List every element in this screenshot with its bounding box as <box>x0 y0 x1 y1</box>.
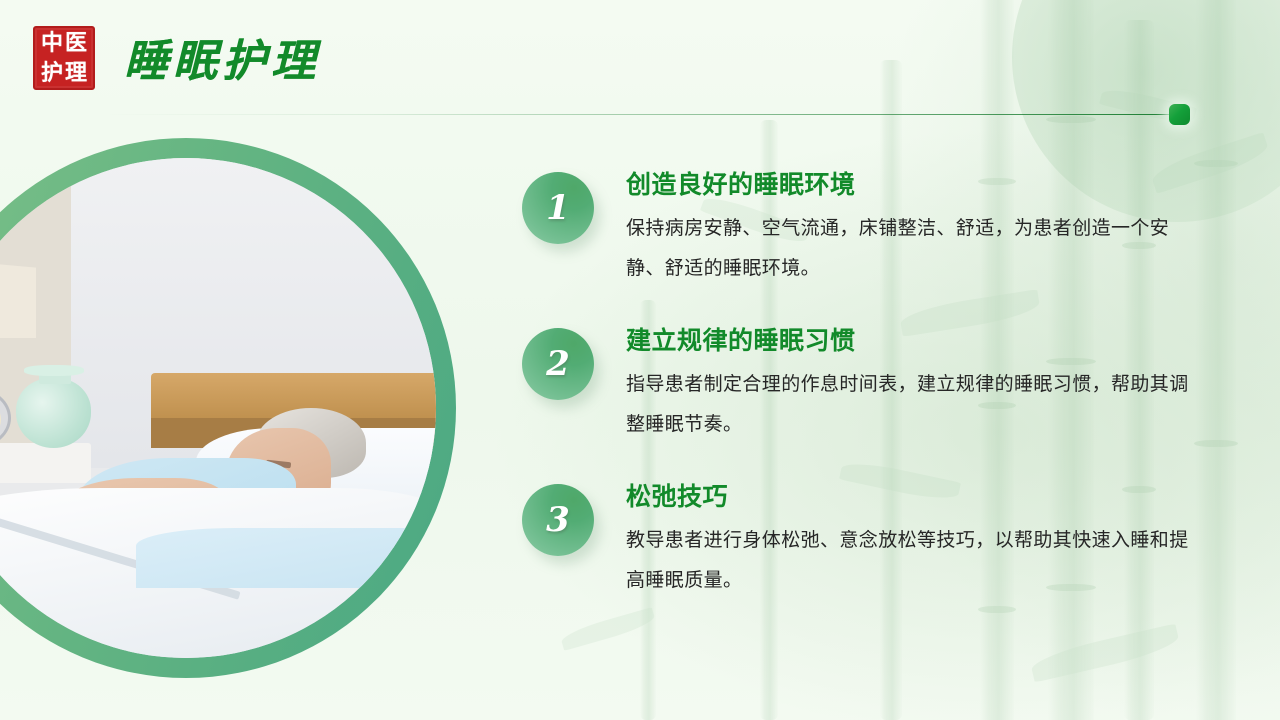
seal-row-bottom: 护 理 <box>35 60 93 86</box>
seal-char-4: 理 <box>65 60 87 86</box>
item-number-badge-2: 2 <box>522 328 594 400</box>
sleeping-patient-photo <box>0 158 436 658</box>
tcm-nursing-seal: 中 医 护 理 <box>33 26 95 90</box>
item-desc-1: 保持病房安静、空气流通，床铺整洁、舒适，为患者创造一个安静、舒适的睡眠环境。 <box>626 208 1196 288</box>
list-item: 3 松弛技巧 教导患者进行身体松弛、意念放松等技巧，以帮助其快速入睡和提高睡眠质… <box>522 472 1202 600</box>
item-texts-3: 松弛技巧 教导患者进行身体松弛、意念放松等技巧，以帮助其快速入睡和提高睡眠质量。 <box>626 472 1196 600</box>
item-title-3: 松弛技巧 <box>626 480 1196 514</box>
page-title: 睡眠护理 <box>124 25 320 89</box>
photo-ring-frame <box>0 138 456 678</box>
tips-list: 1 创造良好的睡眠环境 保持病房安静、空气流通，床铺整洁、舒适，为患者创造一个安… <box>522 160 1202 600</box>
seal-row-top: 中 医 <box>35 30 93 56</box>
seal-char-3: 护 <box>41 60 63 86</box>
item-texts-2: 建立规律的睡眠习惯 指导患者制定合理的作息时间表，建立规律的睡眠习惯，帮助其调整… <box>626 316 1196 444</box>
item-number-1: 1 <box>546 191 570 225</box>
item-desc-3: 教导患者进行身体松弛、意念放松等技巧，以帮助其快速入睡和提高睡眠质量。 <box>626 520 1196 600</box>
item-number-2: 2 <box>546 347 570 381</box>
item-title-1: 创造良好的睡眠环境 <box>626 168 1196 202</box>
list-item: 2 建立规律的睡眠习惯 指导患者制定合理的作息时间表，建立规律的睡眠习惯，帮助其… <box>522 316 1202 444</box>
item-title-2: 建立规律的睡眠习惯 <box>626 324 1196 358</box>
item-number-badge-3: 3 <box>522 484 594 556</box>
seal-char-1: 中 <box>41 30 63 56</box>
item-texts-1: 创造良好的睡眠环境 保持病房安静、空气流通，床铺整洁、舒适，为患者创造一个安静、… <box>626 160 1196 288</box>
item-number-3: 3 <box>546 503 570 537</box>
divider-end-dot-icon <box>1169 104 1190 125</box>
list-item: 1 创造良好的睡眠环境 保持病房安静、空气流通，床铺整洁、舒适，为患者创造一个安… <box>522 160 1202 288</box>
header-divider <box>100 114 1175 115</box>
vase-decor <box>16 378 91 448</box>
slide-canvas: 中 医 护 理 睡眠护理 <box>0 0 1280 720</box>
seal-char-2: 医 <box>65 30 87 56</box>
item-desc-2: 指导患者制定合理的作息时间表，建立规律的睡眠习惯，帮助其调整睡眠节奏。 <box>626 364 1196 444</box>
item-number-badge-1: 1 <box>522 172 594 244</box>
